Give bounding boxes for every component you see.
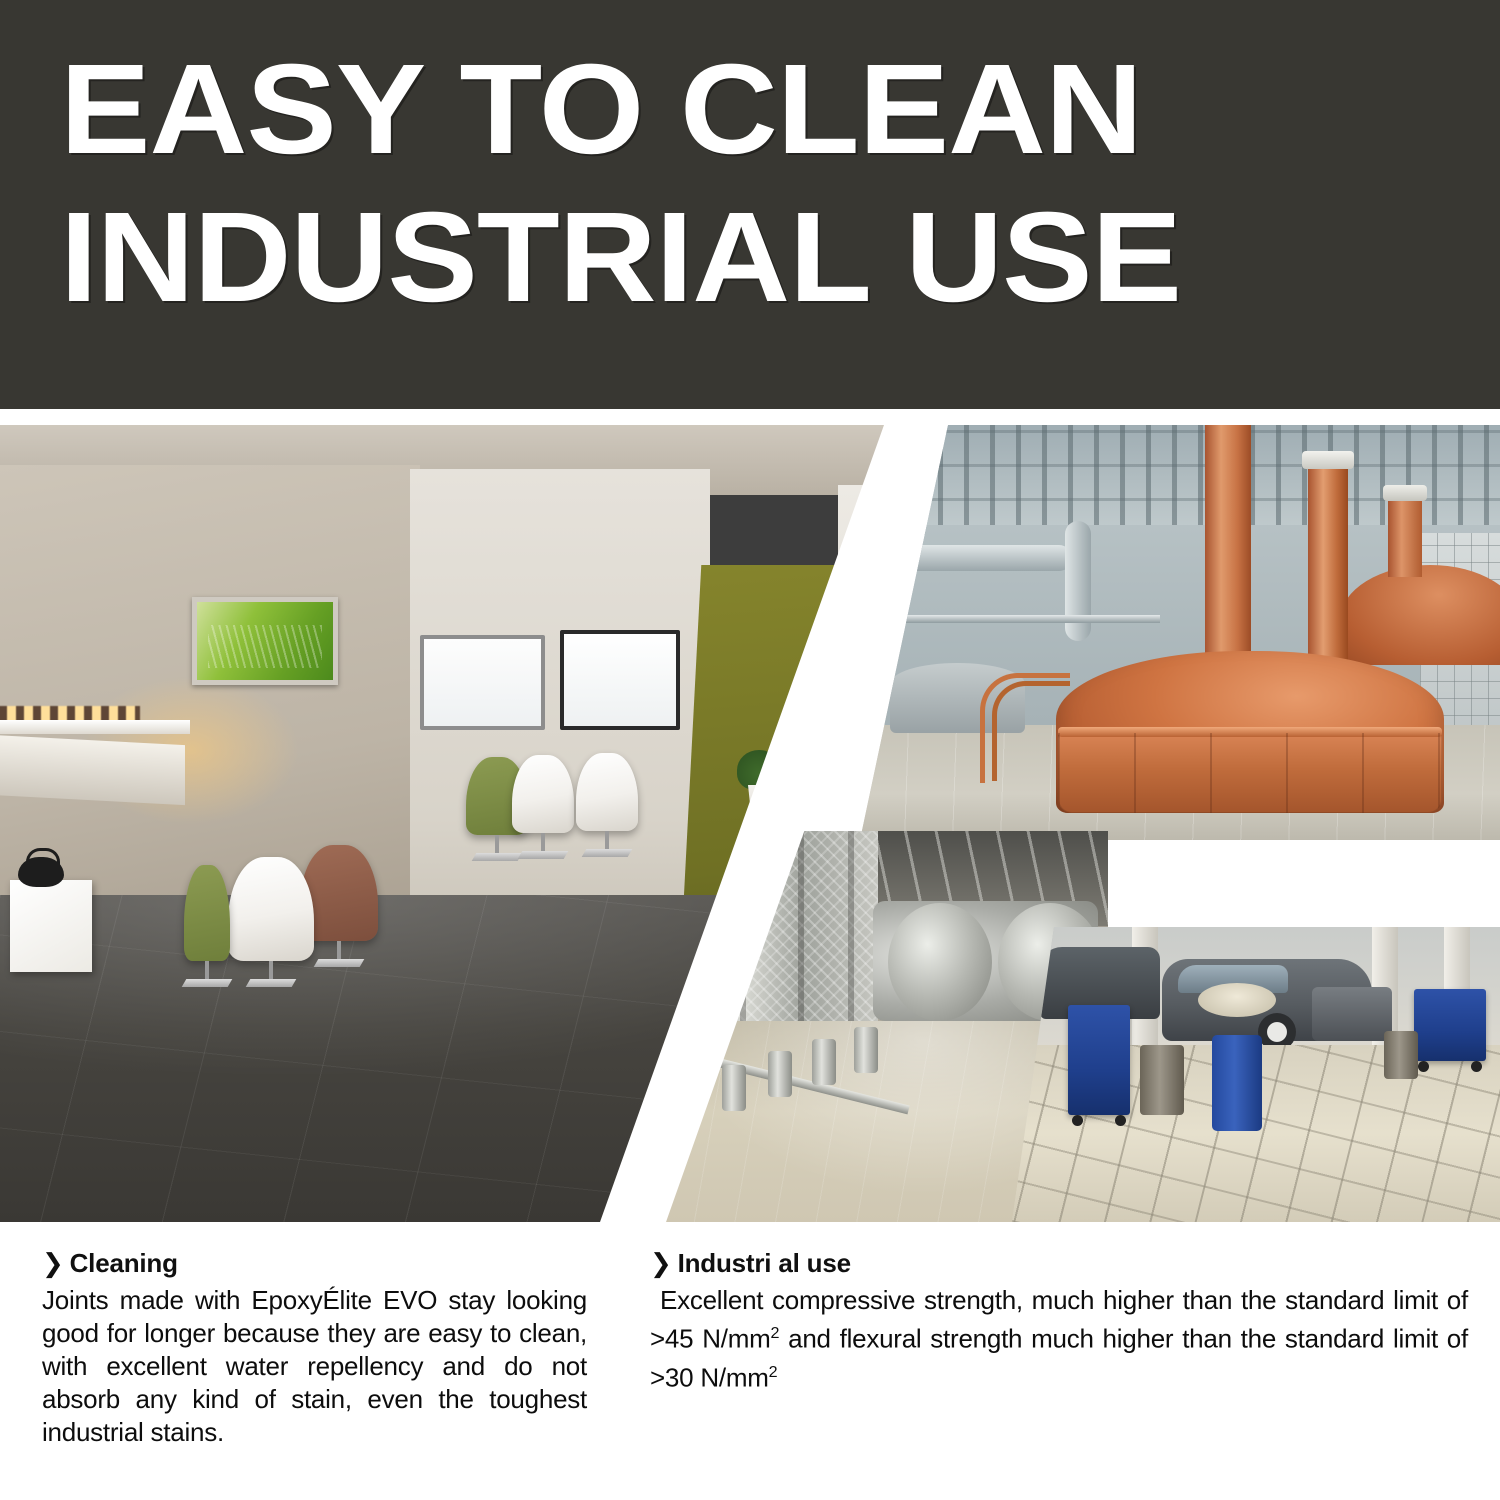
image-collage bbox=[0, 425, 1500, 1222]
garage-tool-cart-1 bbox=[1068, 1005, 1130, 1115]
industrial-sup-2: 2 bbox=[769, 1363, 778, 1381]
brewery-chimney-3 bbox=[1388, 497, 1422, 577]
caption-cleaning-heading-text: Cleaning bbox=[70, 1248, 178, 1278]
caption-cleaning-heading: ❯Cleaning bbox=[42, 1248, 587, 1279]
winery-valve-3 bbox=[768, 1051, 792, 1097]
interior-window-right bbox=[560, 630, 680, 730]
interior-chair-white-2 bbox=[576, 753, 638, 831]
brewery-duct-vertical bbox=[1065, 521, 1091, 641]
interior-chair-white-3 bbox=[228, 857, 314, 961]
garage-drum-1 bbox=[1140, 1045, 1184, 1115]
interior-counter-top bbox=[0, 720, 190, 734]
banner-title: EASY TO CLEAN INDUSTRIAL USE bbox=[60, 36, 1500, 332]
caption-industrial-body: Excellent compressive strength, much hig… bbox=[650, 1284, 1468, 1394]
winery-valve-2 bbox=[722, 1065, 746, 1111]
interior-green-artwork bbox=[192, 597, 338, 685]
winery-valve-4 bbox=[812, 1039, 836, 1085]
brewery-chimney-2 bbox=[1308, 465, 1348, 665]
interior-white-cube-table bbox=[10, 880, 92, 972]
caption-industrial-heading-text: Industri al use bbox=[678, 1248, 851, 1278]
photo-brewery-copper-kettle bbox=[860, 425, 1500, 840]
brewery-duct-horizontal bbox=[882, 545, 1072, 571]
photo-car-workshop bbox=[1012, 927, 1500, 1222]
interior-chair-green-2 bbox=[184, 865, 230, 961]
header-banner: EASY TO CLEAN INDUSTRIAL USE bbox=[0, 0, 1500, 409]
chevron-right-icon: ❯ bbox=[42, 1248, 64, 1279]
caption-cleaning-body: Joints made with EpoxyÉlite EVO stay loo… bbox=[42, 1284, 587, 1449]
captions-area: ❯Cleaning Joints made with EpoxyÉlite EV… bbox=[0, 1222, 1500, 1500]
caption-cleaning: ❯Cleaning Joints made with EpoxyÉlite EV… bbox=[42, 1248, 587, 1449]
garage-drum-2 bbox=[1384, 1031, 1418, 1079]
caption-industrial-use: ❯Industri al use Excellent compressive s… bbox=[650, 1248, 1468, 1394]
brewery-rail bbox=[860, 615, 1160, 623]
garage-oil-funnel bbox=[1198, 983, 1276, 1017]
garage-tool-cart-2 bbox=[1414, 989, 1486, 1061]
interior-window-left bbox=[420, 635, 545, 730]
winery-valve-5 bbox=[854, 1027, 878, 1073]
industrial-sup-1: 2 bbox=[771, 1324, 780, 1342]
garage-oil-drainer bbox=[1212, 1035, 1262, 1131]
garage-car-front-end bbox=[1312, 987, 1392, 1041]
interior-chair-white-1 bbox=[512, 755, 574, 833]
caption-industrial-heading: ❯Industri al use bbox=[650, 1248, 1468, 1279]
brewery-chimney-1 bbox=[1205, 425, 1251, 665]
interior-teapot bbox=[18, 857, 64, 887]
chevron-right-icon: ❯ bbox=[650, 1248, 672, 1279]
brewery-kettle-seams bbox=[1058, 733, 1442, 813]
interior-bar-shelf bbox=[0, 735, 185, 805]
product-infographic-page: EASY TO CLEAN INDUSTRIAL USE bbox=[0, 0, 1500, 1500]
